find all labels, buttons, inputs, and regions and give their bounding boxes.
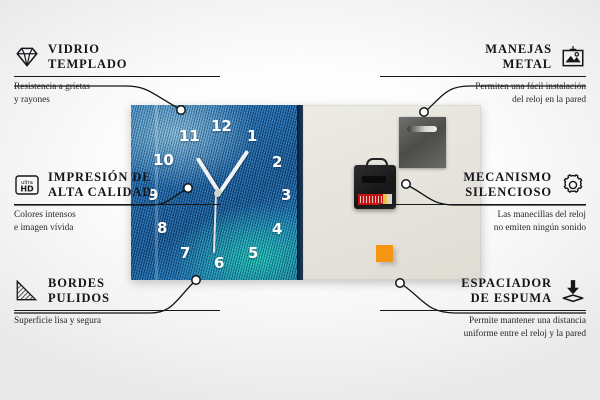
clock-numeral-5: 5 bbox=[248, 246, 258, 261]
feature-title: IMPRESIÓN DEALTA CALIDAD bbox=[48, 170, 152, 201]
feature-title: MECANISMOSILENCIOSO bbox=[463, 170, 552, 201]
clock-numeral-4: 4 bbox=[272, 222, 282, 237]
feature-espaciador-de-espuma: ESPACIADORDE ESPUMA Permite mantener una… bbox=[380, 276, 586, 340]
foam-spacer-square bbox=[376, 245, 393, 262]
mechanism-hanger-loop bbox=[366, 158, 388, 169]
feature-desc: Resistencia a grietasy rayones bbox=[14, 81, 220, 106]
feature-impresion-alta-calidad: ultraHD IMPRESIÓN DEALTA CALIDAD Colores… bbox=[14, 170, 220, 234]
clock-numeral-12: 12 bbox=[211, 119, 232, 134]
clock-numeral-11: 11 bbox=[179, 129, 200, 144]
feature-desc: Permiten una fácil instalacióndel reloj … bbox=[380, 81, 586, 106]
diamond-icon bbox=[14, 44, 40, 70]
metal-hanger-icon bbox=[399, 117, 446, 168]
feature-rule bbox=[14, 204, 220, 206]
feature-desc: Superficie lisa y segura bbox=[14, 315, 220, 328]
feature-rule bbox=[380, 310, 586, 312]
clock-numeral-1: 1 bbox=[247, 129, 257, 144]
polished-edge-icon bbox=[14, 278, 40, 304]
clock-numeral-6: 6 bbox=[214, 256, 224, 271]
feature-title: MANEJASMETAL bbox=[485, 42, 552, 73]
feature-rule bbox=[14, 76, 220, 78]
clock-numeral-3: 3 bbox=[281, 188, 291, 203]
clock-numeral-10: 10 bbox=[153, 153, 174, 168]
feature-desc: Colores intensose imagen vívida bbox=[14, 209, 220, 234]
clock-numeral-2: 2 bbox=[272, 155, 282, 170]
feature-rule bbox=[380, 76, 586, 78]
feature-title: ESPACIADORDE ESPUMA bbox=[461, 276, 552, 307]
gear-icon bbox=[560, 172, 586, 198]
svg-text:HD: HD bbox=[20, 185, 34, 194]
spacer-arrow-icon bbox=[560, 278, 586, 304]
feature-vidrio-templado: VIDRIOTEMPLADO Resistencia a grietasy ra… bbox=[14, 42, 220, 106]
ultra-hd-icon: ultraHD bbox=[14, 172, 40, 198]
infographic-canvas: 12 1 2 3 4 5 6 7 8 9 10 11 bbox=[0, 0, 600, 400]
feature-mecanismo-silencioso: MECANISMOSILENCIOSO Las manecillas del r… bbox=[380, 170, 586, 234]
feature-rule bbox=[380, 204, 586, 206]
feature-title: VIDRIOTEMPLADO bbox=[48, 42, 127, 73]
hanger-slot bbox=[407, 126, 437, 132]
wall-frame-icon bbox=[560, 44, 586, 70]
feature-manejas-metal: MANEJASMETAL Permiten una fácil instalac… bbox=[380, 42, 586, 106]
clock-numeral-7: 7 bbox=[180, 246, 190, 261]
feature-bordes-pulidos: BORDESPULIDOS Superficie lisa y segura bbox=[14, 276, 220, 328]
feature-desc: Las manecillas del relojno emiten ningún… bbox=[380, 209, 586, 234]
feature-desc: Permite mantener una distanciauniforme e… bbox=[380, 315, 586, 340]
feature-rule bbox=[14, 310, 220, 312]
feature-title: BORDESPULIDOS bbox=[48, 276, 110, 307]
